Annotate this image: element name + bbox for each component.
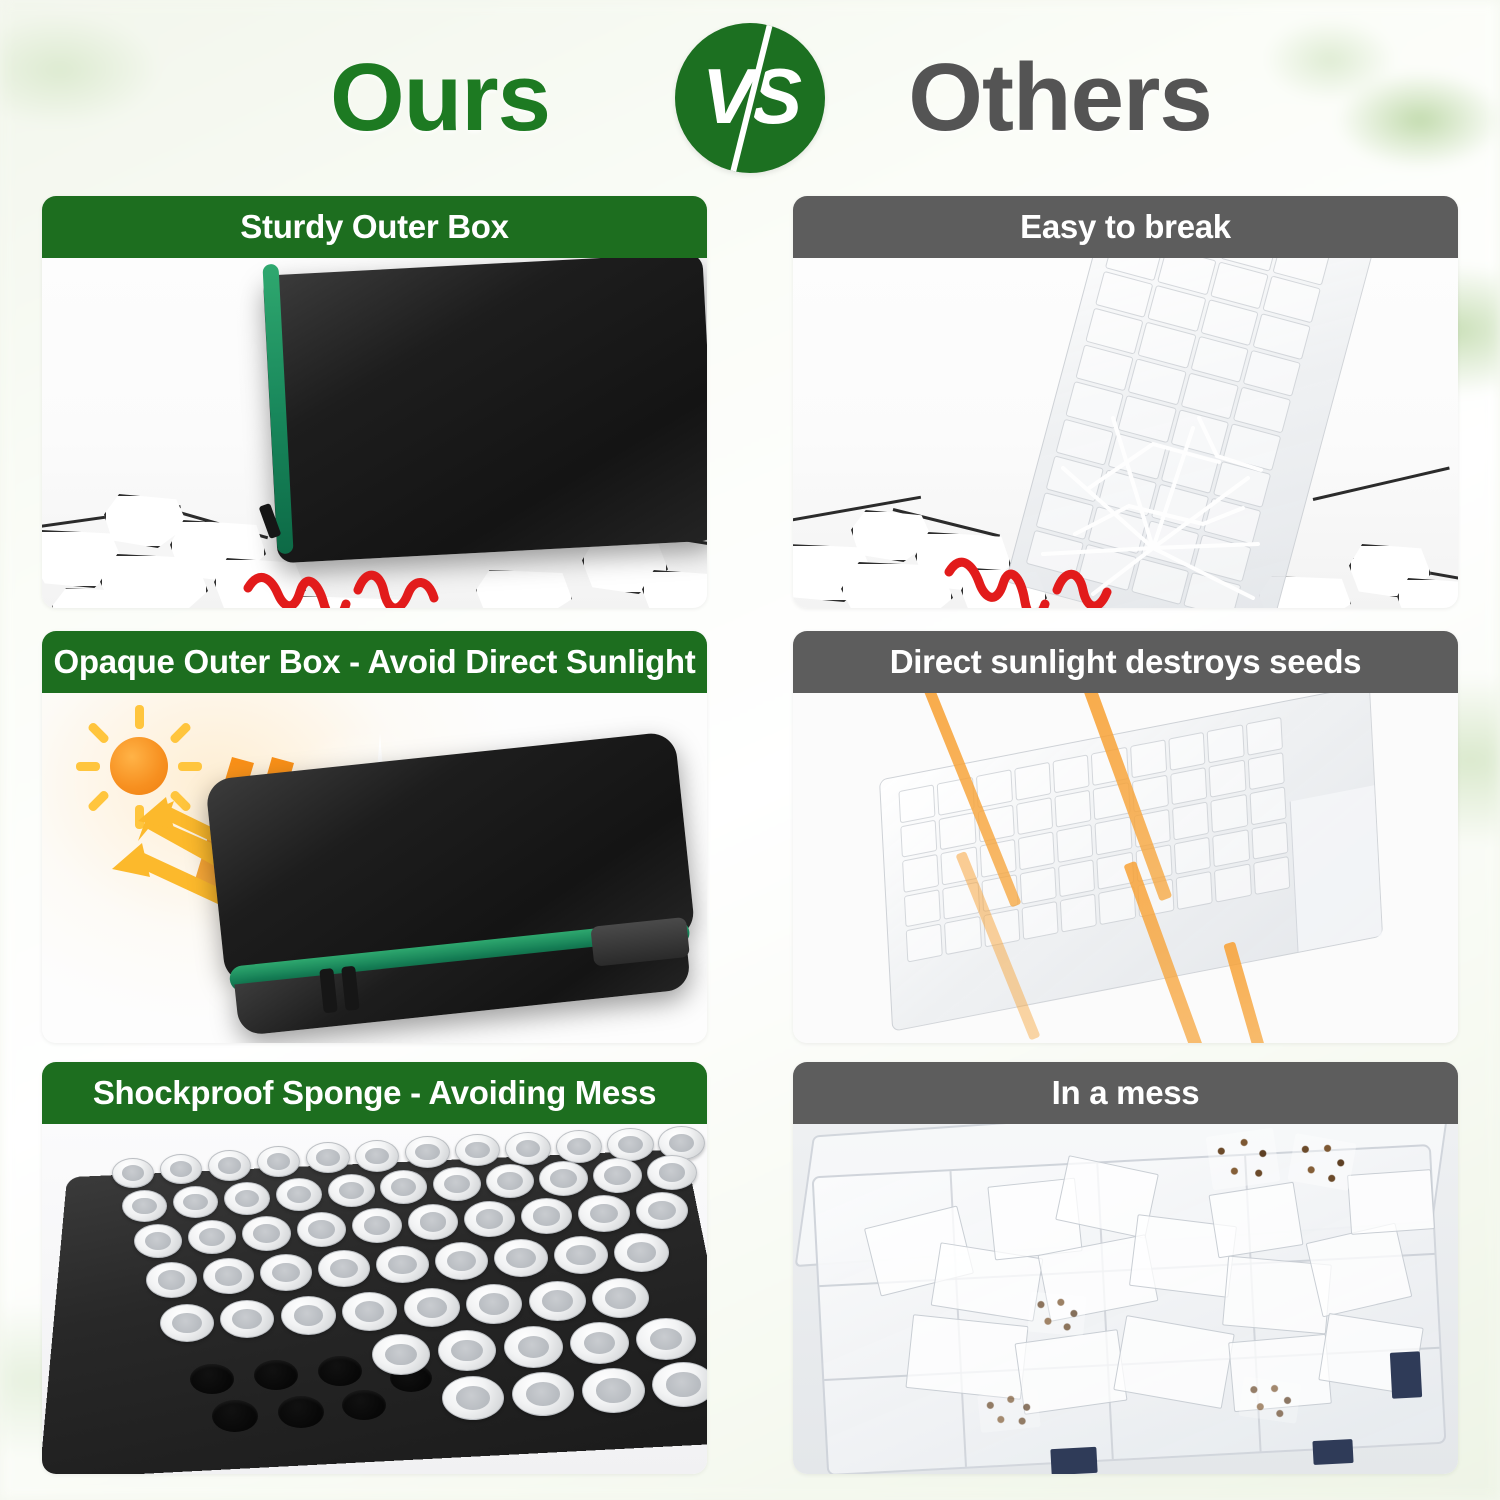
comparison-infographic: Ours VS Others Sturdy Outer Box bbox=[0, 0, 1500, 1500]
panel-ours-shockproof-sponge: Shockproof Sponge - Avoiding Mess bbox=[42, 1062, 707, 1474]
panel-title-banner: Sturdy Outer Box bbox=[42, 196, 707, 258]
photo-direct-sunlight bbox=[793, 693, 1458, 1043]
seed-clump bbox=[1238, 1376, 1301, 1424]
panel-title-banner: Easy to break bbox=[793, 196, 1458, 258]
tray-latch bbox=[1390, 1351, 1422, 1399]
panel-ours-opaque-outer-box: Opaque Outer Box - Avoid Direct Sunlight bbox=[42, 631, 707, 1043]
photo-opaque-outer-box bbox=[42, 693, 707, 1043]
panel-title-banner: Direct sunlight destroys seeds bbox=[793, 631, 1458, 693]
panel-others-in-a-mess: In a mess bbox=[793, 1062, 1458, 1474]
panel-others-easy-to-break: Easy to break bbox=[793, 196, 1458, 608]
header-ours-label: Ours bbox=[225, 50, 655, 146]
panel-others-direct-sunlight: Direct sunlight destroys seeds bbox=[793, 631, 1458, 1043]
list-item bbox=[1347, 1169, 1435, 1235]
list-item bbox=[1209, 1182, 1304, 1259]
header-others-label: Others bbox=[845, 50, 1275, 146]
shatter-crack-icon bbox=[1003, 358, 1343, 608]
seed-clump bbox=[977, 1389, 1041, 1433]
product-case bbox=[205, 731, 703, 1043]
impact-zigzag-icon bbox=[238, 520, 478, 608]
panel-title-banner: Shockproof Sponge - Avoiding Mess bbox=[42, 1062, 707, 1124]
panel-ours-sturdy-outer-box: Sturdy Outer Box bbox=[42, 196, 707, 608]
photo-easy-to-break bbox=[793, 258, 1458, 608]
list-item bbox=[905, 1314, 1028, 1400]
header: Ours VS Others bbox=[0, 14, 1500, 182]
vs-badge: VS bbox=[675, 23, 825, 173]
photo-sturdy-outer-box bbox=[42, 258, 707, 608]
panel-title-banner: In a mess bbox=[793, 1062, 1458, 1124]
tray-latch bbox=[1312, 1439, 1353, 1465]
panel-title-banner: Opaque Outer Box - Avoid Direct Sunlight bbox=[42, 631, 707, 693]
product-case bbox=[263, 258, 707, 563]
photo-shockproof-sponge bbox=[42, 1124, 707, 1474]
jar-grid bbox=[42, 1124, 707, 1474]
photo-in-a-mess bbox=[793, 1124, 1458, 1474]
seed-clump bbox=[1206, 1128, 1281, 1191]
tray-latch bbox=[1050, 1447, 1097, 1474]
seed-clump bbox=[1027, 1292, 1086, 1337]
